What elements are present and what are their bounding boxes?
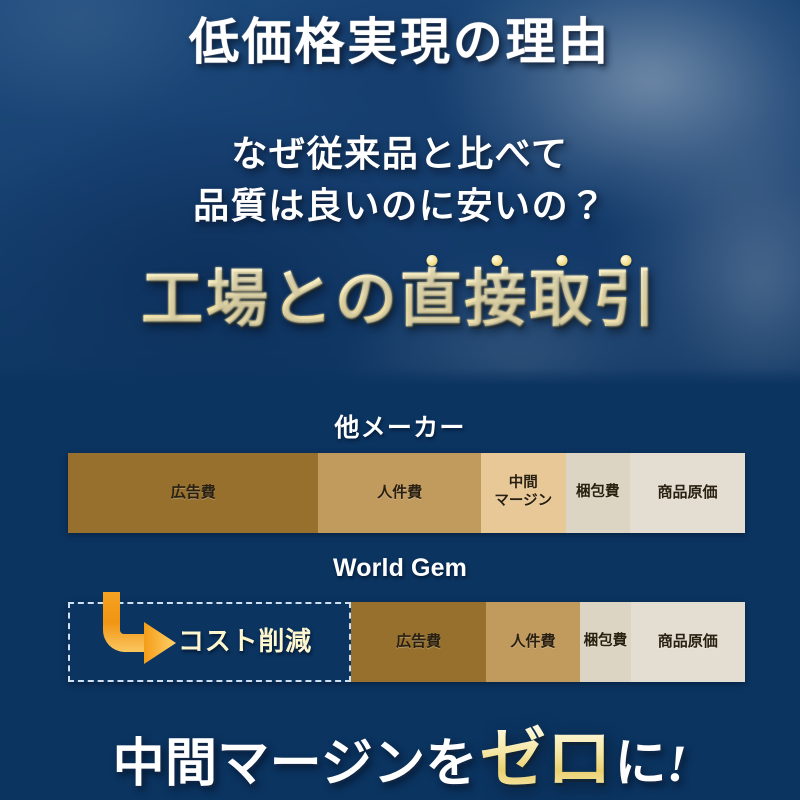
segment-label: 広告費	[171, 484, 216, 502]
bar-segment-middle-margin: 中間 マージン	[481, 453, 566, 533]
bar-segment-product-cost: 商品原価	[631, 602, 745, 682]
segment-label: 人件費	[377, 484, 422, 502]
hero-subtitle-line-2: 品質は良いのに安いの？	[0, 180, 800, 232]
page-title: 低価格実現の理由	[0, 14, 800, 70]
cost-reduction-label: コスト削減	[178, 626, 312, 658]
hero-gold-headline: 工場との直接取引	[0, 262, 800, 340]
hero-gold-plain: 工場との	[141, 266, 400, 334]
bottom-headline-prefix: 中間マージンを	[113, 736, 478, 793]
bar-segment-product-cost: 商品原価	[630, 453, 745, 533]
chart-series-label-other-maker: 他メーカー	[0, 408, 800, 444]
segment-label: 梱包費	[584, 633, 628, 651]
bottom-headline-exclamation: !	[667, 736, 688, 793]
segment-label: 中間 マージン	[494, 475, 552, 510]
segment-label: 商品原価	[657, 484, 717, 502]
bottom-headline-highlight: ゼロ	[478, 723, 615, 796]
segment-label: 梱包費	[576, 484, 620, 502]
bar-segment-labor-cost: 人件費	[318, 453, 480, 533]
elbow-arrow-icon	[94, 590, 180, 674]
stacked-bar-other-maker: 広告費 人件費 中間 マージン 梱包費 商品原価	[68, 453, 745, 533]
stacked-bar-world-gem: コスト削減 広告費 人件費 梱包費 商品原価	[68, 602, 745, 682]
chart-series-label-world-gem: World Gem	[0, 554, 800, 583]
bar-segment-packaging-cost: 梱包費	[580, 602, 630, 682]
segment-label: 広告費	[396, 633, 441, 651]
bottom-headline-section: 中間マージンをゼロに!	[0, 706, 800, 800]
cost-comparison-chart: 他メーカー 広告費 人件費 中間 マージン 梱包費 商品原価 World Gem	[0, 386, 800, 706]
hero-section: 低価格実現の理由 なぜ従来品と比べて 品質は良いのに安いの？ 工場との直接取引 …	[0, 0, 800, 386]
bar-segment-packaging-cost: 梱包費	[566, 453, 630, 533]
bottom-headline-suffix: に	[614, 736, 666, 793]
bar-segment-cost-reduction: コスト削減	[68, 602, 351, 682]
bottom-headline: 中間マージンをゼロに!	[113, 705, 688, 800]
segment-label: 商品原価	[658, 633, 718, 651]
bar-segment-ad-cost: 広告費	[68, 453, 318, 533]
hero-gold-emphasised: 直接取引	[400, 266, 659, 334]
segment-label: 人件費	[510, 633, 555, 651]
bar-segment-labor-cost: 人件費	[486, 602, 580, 682]
infographic-page: 低価格実現の理由 なぜ従来品と比べて 品質は良いのに安いの？ 工場との直接取引 …	[0, 0, 800, 800]
hero-subtitle-line-1: なぜ従来品と比べて	[0, 128, 800, 180]
hero-subtitle: なぜ従来品と比べて 品質は良いのに安いの？	[0, 128, 800, 232]
bar-segment-ad-cost: 広告費	[351, 602, 486, 682]
